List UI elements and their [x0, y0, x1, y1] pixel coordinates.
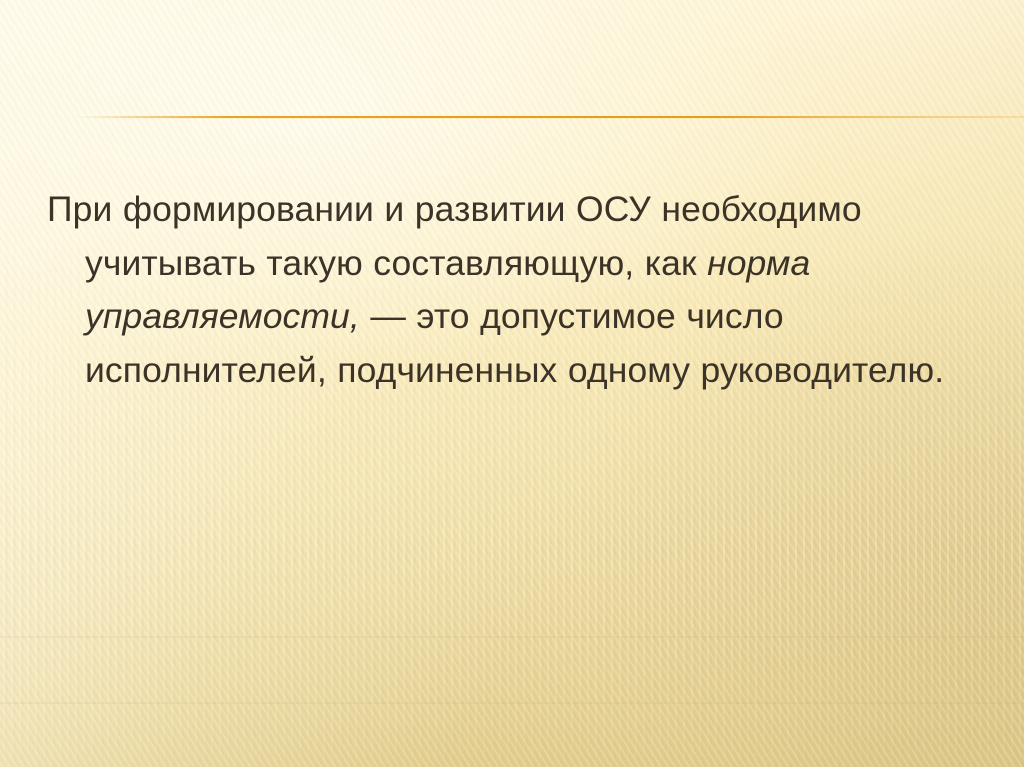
slide-title-placeholder[interactable]	[75, 34, 975, 112]
body-paragraph: При формировании и развитии ОСУ необходи…	[47, 183, 977, 397]
slide-body-textbox[interactable]: При формировании и развитии ОСУ необходи…	[47, 183, 977, 397]
presentation-slide: При формировании и развитии ОСУ необходи…	[0, 0, 1024, 767]
